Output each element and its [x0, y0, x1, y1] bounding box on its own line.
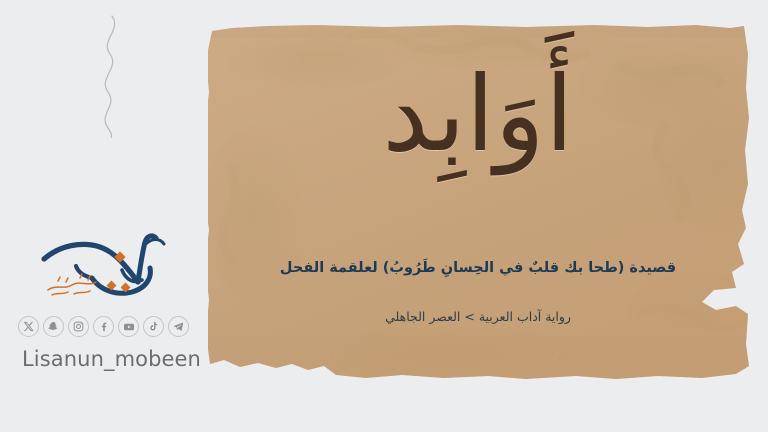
username-label: Lisanun_mobeen	[22, 347, 201, 371]
social-link-facebook[interactable]	[93, 316, 114, 337]
wavy-line-icon	[88, 14, 134, 138]
tiktok-icon	[148, 321, 159, 332]
social-link-instagram[interactable]	[68, 316, 89, 337]
lisanun-mobeen-calligraphy-logo	[34, 232, 176, 308]
social-link-telegram[interactable]	[168, 316, 189, 337]
social-link-x-twitter[interactable]	[18, 316, 39, 337]
facebook-icon	[98, 321, 109, 332]
social-link-tiktok[interactable]	[143, 316, 164, 337]
social-link-youtube[interactable]	[118, 316, 139, 337]
parchment-paper	[196, 14, 760, 392]
parchment-shape	[196, 14, 760, 392]
social-link-snapchat[interactable]	[43, 316, 64, 337]
instagram-icon	[73, 321, 84, 332]
left-sidebar: Lisanun_mobeen	[0, 0, 208, 432]
social-links-row	[18, 316, 189, 337]
telegram-icon	[173, 321, 184, 332]
youtube-icon	[123, 321, 135, 333]
x-twitter-icon	[23, 321, 34, 332]
snapchat-icon	[48, 321, 59, 332]
